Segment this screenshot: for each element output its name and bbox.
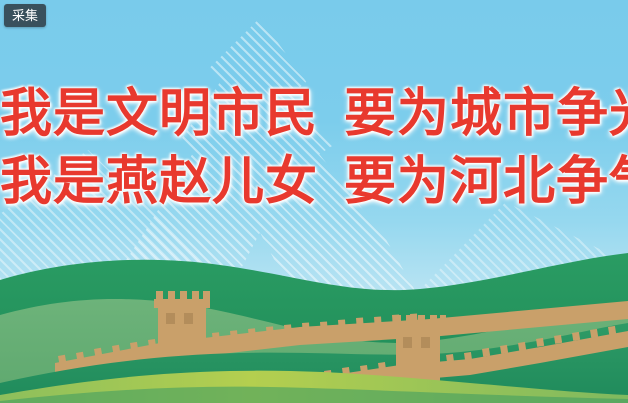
banner-canvas: 我是文明市民要为城市争光 我是燕赵儿女要为河北争气 采集 <box>0 0 628 403</box>
capture-button[interactable]: 采集 <box>4 4 46 27</box>
landscape-illustration <box>0 243 628 403</box>
